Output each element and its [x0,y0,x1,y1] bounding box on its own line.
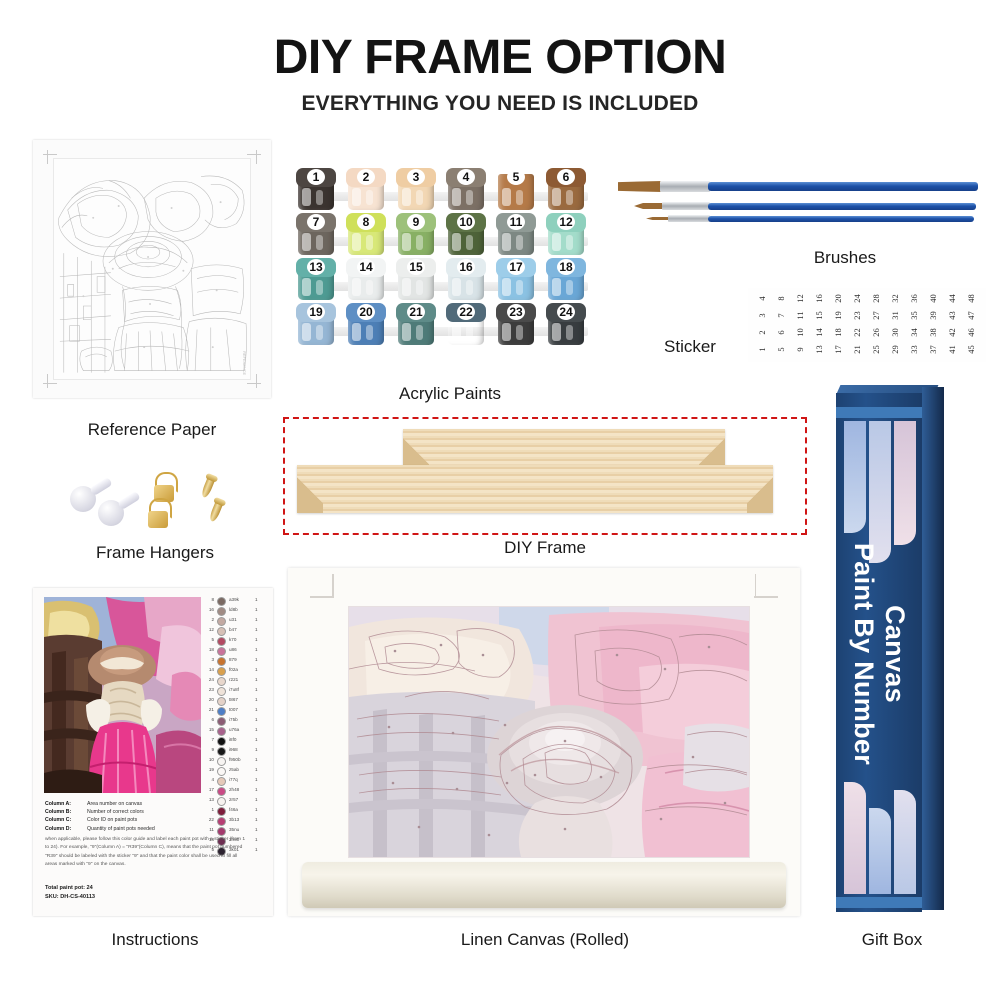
paint-pot-10[interactable]: 10 [446,213,486,257]
pot-highlight [552,323,561,341]
pot-highlight [416,190,423,205]
column-definition-label: Column D: [45,825,87,833]
frame-hangers-group [70,472,240,532]
sticker-number-25[interactable]: 25 [868,341,885,358]
legend-row: 4i77q1 [205,775,265,785]
pot-highlight [452,323,461,341]
paint-pot-15[interactable]: 15 [396,258,436,302]
infographic-root: DIY FRAME OPTION EVERYTHING YOU NEED IS … [0,0,1000,1000]
pot-number: 8 [346,214,386,231]
pot-number: 11 [496,214,536,231]
column-definition: Column C:Color ID on paint pots [45,816,255,824]
gift-box-title-line1: Canvas [879,439,910,869]
legend-row: 38791 [205,655,265,665]
legend-row: 20t8671 [205,695,265,705]
sticker-number-17[interactable]: 17 [830,341,847,358]
instructions-label: Instructions [40,930,270,950]
paint-pot-7[interactable]: 7 [296,213,336,257]
legend-row: 7i8f01 [205,735,265,745]
sticker-number-46[interactable]: 46 [963,324,980,341]
sticker-column: 17181920 [830,290,847,360]
legend-quantity: 1 [255,615,263,625]
legend-quantity: 1 [255,825,263,835]
paint-pot-row: 789101112 [296,213,596,258]
pot-highlight [416,235,423,250]
legend-row: 5k701 [205,635,265,645]
pot-highlight [466,325,473,340]
acrylic-paints-group: 123456789101112131415161718192021222324 [296,168,596,348]
pot-highlight [516,280,523,295]
pot-highlight [566,190,573,205]
legend-color-id: k70 [229,635,251,645]
sticker-number-38[interactable]: 38 [925,324,942,341]
pot-highlight [516,190,523,205]
sticker-column: 13141516 [811,290,828,360]
paint-pot-1[interactable]: 1 [296,168,336,212]
column-definitions: Column A:Area number on canvasColumn B:N… [45,800,255,833]
legend-area-number: 21 [205,705,214,715]
sticker-column: 37383940 [925,290,942,360]
column-definition-text: Area number on canvas [87,801,142,807]
pot-number: 6 [546,169,586,186]
paint-pot-row: 192021222324 [296,303,596,348]
legend-row: 12b471 [205,625,265,635]
legend-quantity: 1 [255,695,263,705]
pot-highlight [402,188,411,206]
pot-highlight [316,190,323,205]
gift-box: Canvas Paint By Number [836,385,946,916]
diy-frame-label: DIY Frame [420,538,670,558]
sticker-number-44[interactable]: 44 [944,290,961,307]
legend-row: 14f02a1 [205,665,265,675]
gift-box-title: Canvas Paint By Number [848,439,910,869]
legend-row: 8a39k1 [205,595,265,605]
legend-quantity: 1 [255,805,263,815]
legend-color-id: u31 [229,615,251,625]
legend-area-number: 2 [205,615,214,625]
frame-hangers-label: Frame Hangers [60,543,250,563]
pot-highlight [402,278,411,296]
legend-quantity: 1 [255,815,263,825]
sticker-number-26[interactable]: 26 [868,324,885,341]
sticker-column: 9101112 [792,290,809,360]
column-definition: Column B:Number of correct colors [45,808,255,816]
pot-highlight [352,188,361,206]
sticker-number-3[interactable]: 3 [754,307,771,324]
paint-pot-4[interactable]: 4 [446,168,486,212]
sticker-column: 25262728 [868,290,885,360]
instructions-totals: Total paint pot: 24 SKU: DH-CS-40113 [45,884,95,902]
diy-frame [283,417,807,535]
sticker-column: 29303132 [887,290,904,360]
sticker-number-21[interactable]: 21 [849,341,866,358]
pot-highlight [366,325,373,340]
paint-pot-13[interactable]: 13 [296,258,336,302]
legend-quantity: 1 [255,795,263,805]
legend-row: 172h481 [205,785,265,795]
pot-highlight [302,188,311,206]
pot-highlight [502,233,511,251]
pot-number: 1 [296,169,336,186]
legend-color-id: r221 [229,675,251,685]
gift-box-title-line2: Paint By Number [848,439,879,869]
pot-number: 22 [446,304,486,321]
paint-pot-24[interactable]: 24 [546,303,586,347]
gift-box-label: Gift Box [832,930,952,950]
sticker-number-30[interactable]: 30 [887,324,904,341]
sticker-number-10[interactable]: 10 [792,324,809,341]
paint-pot-22[interactable]: 22 [446,303,486,347]
sticker-number-32[interactable]: 32 [887,290,904,307]
sticker-number-7[interactable]: 7 [773,307,790,324]
pot-highlight [502,323,511,341]
legend-quantity: 1 [255,835,263,845]
legend-quantity: 1 [255,785,263,795]
pot-highlight [366,190,373,205]
paint-pot-23[interactable]: 23 [496,303,536,347]
paint-pot-9[interactable]: 9 [396,213,436,257]
stretcher-bar-bottom [297,465,773,513]
sticker-column: 33343536 [906,290,923,360]
pot-number: 18 [546,259,586,276]
pot-highlight [316,235,323,250]
pot-number: 5 [496,169,536,186]
column-definition-text: Color ID on paint pots [87,817,137,823]
svg-text:REFERENCE: REFERENCE [242,351,247,375]
column-definition-label: Column A: [45,800,87,808]
legend-quantity: 1 [255,765,263,775]
legend-area-number: 16 [205,605,214,615]
legend-row: 24r2211 [205,675,265,685]
pot-highlight [566,280,573,295]
pot-highlight [552,278,561,296]
page-title: DIY FRAME OPTION [0,30,1000,85]
sticker-column: 41424344 [944,290,961,360]
sticker-number-33[interactable]: 33 [906,341,923,358]
legend-area-number: 20 [205,695,214,705]
total-paint-pot: Total paint pot: 24 [45,884,95,893]
legend-quantity: 1 [255,755,263,765]
legend-quantity: 1 [255,605,263,615]
pot-highlight [316,280,323,295]
sticker-number-40[interactable]: 40 [925,290,942,307]
legend-area-number: 15 [205,725,214,735]
pot-number: 10 [446,214,486,231]
sticker-number-27[interactable]: 27 [868,307,885,324]
column-definition: Column A:Area number on canvas [45,800,255,808]
sticker-number-15[interactable]: 15 [811,307,828,324]
sticker-number-6[interactable]: 6 [773,324,790,341]
legend-color-id: i75b [229,715,251,725]
column-definition: Column D:Quantity of paint pots needed [45,825,255,833]
paint-pot-5[interactable]: 5 [496,168,536,212]
legend-quantity: 1 [255,655,263,665]
gift-box-side [922,387,944,910]
pot-highlight [402,323,411,341]
legend-row: 18u861 [205,645,265,655]
legend-row: 21t0071 [205,705,265,715]
gift-box-band-bottom [836,897,922,908]
legend-quantity: 1 [255,685,263,695]
legend-row: 15u76a1 [205,725,265,735]
sticker-sheet: 1234567891011121314151617181920212223242… [748,288,986,362]
pot-highlight [302,233,311,251]
sticker-column: 21222324 [849,290,866,360]
sticker-number-4[interactable]: 4 [754,290,771,307]
paint-pot-21[interactable]: 21 [396,303,436,347]
pot-highlight [302,323,311,341]
paint-pot-20[interactable]: 20 [346,303,386,347]
reference-paper-label: Reference Paper [33,420,271,440]
sticker-number-5[interactable]: 5 [773,341,790,358]
paint-pot-6[interactable]: 6 [546,168,586,212]
legend-color-id: 2h48 [229,785,251,795]
pot-highlight [452,233,461,251]
pot-highlight [552,233,561,251]
screw-2 [208,499,224,522]
sticker-column: 45464748 [963,290,980,360]
pot-highlight [552,188,561,206]
gift-box-front: Canvas Paint By Number [836,393,922,912]
sticker-number-18[interactable]: 18 [830,324,847,341]
legend-color-id: f02a [229,665,251,675]
pot-highlight [566,235,573,250]
legend-area-number: 8 [205,595,214,605]
legend-row: 2u311 [205,615,265,625]
pot-number: 15 [396,259,436,276]
legend-area-number: 12 [205,625,214,635]
sticker-number-20[interactable]: 20 [830,290,847,307]
pot-highlight [352,278,361,296]
sticker-number-11[interactable]: 11 [792,307,809,324]
sticker-number-9[interactable]: 9 [792,341,809,358]
paint-pot-3[interactable]: 3 [396,168,436,212]
legend-quantity: 1 [255,705,263,715]
paint-pot-17[interactable]: 17 [496,258,536,302]
legend-quantity: 1 [255,645,263,655]
sticker-number-29[interactable]: 29 [887,341,904,358]
page-subtitle: EVERYTHING YOU NEED IS INCLUDED [0,92,1000,116]
brushes-label: Brushes [760,248,930,268]
legend-color-id: u86 [229,645,251,655]
paint-pot-row: 123456 [296,168,596,213]
sku: SKU: DH-CS-40113 [45,893,95,902]
legend-quantity: 1 [255,665,263,675]
sticker-number-8[interactable]: 8 [773,290,790,307]
sticker-number-13[interactable]: 13 [811,341,828,358]
pot-highlight [352,323,361,341]
legend-row: 6i75b1 [205,715,265,725]
sticker-number-41[interactable]: 41 [944,341,961,358]
legend-area-number: 4 [205,775,214,785]
paint-pot-14[interactable]: 14 [346,258,386,302]
pot-highlight [502,278,511,296]
pot-highlight [316,325,323,340]
sticker-number-31[interactable]: 31 [887,307,904,324]
legend-color-id: f950b [229,755,251,765]
pot-number: 3 [396,169,436,186]
legend-area-number: 17 [205,785,214,795]
sticker-number-48[interactable]: 48 [963,290,980,307]
legend-area-number: 18 [205,645,214,655]
pot-number: 20 [346,304,386,321]
pot-highlight [466,280,473,295]
sticker-number-42[interactable]: 42 [944,324,961,341]
sticker-number-45[interactable]: 45 [963,341,980,358]
canvas-roll [302,862,786,908]
pot-highlight [516,235,523,250]
column-definition-text: Quantity of paint pots needed [87,826,155,832]
legend-color-id: i77q [229,775,251,785]
pot-number: 21 [396,304,436,321]
paint-pot-2[interactable]: 2 [346,168,386,212]
linen-canvas-label: Linen Canvas (Rolled) [400,930,690,950]
sticker-number-16[interactable]: 16 [811,290,828,307]
pot-number: 23 [496,304,536,321]
pot-highlight [566,325,573,340]
plastic-hanger-2 [98,494,146,526]
pot-number: 7 [296,214,336,231]
sticker-number-14[interactable]: 14 [811,324,828,341]
pot-highlight [366,235,373,250]
pot-number: 19 [296,304,336,321]
legend-quantity: 1 [255,725,263,735]
pot-highlight [302,278,311,296]
sticker-number-22[interactable]: 22 [849,324,866,341]
legend-quantity: 1 [255,715,263,725]
legend-area-number: 3 [205,655,214,665]
legend-area-number: 14 [205,665,214,675]
paint-pot-8[interactable]: 8 [346,213,386,257]
legend-row: 19z5ab1 [205,765,265,775]
legend-row: 23i7u8f1 [205,685,265,695]
legend-quantity: 1 [255,635,263,645]
pot-highlight [466,235,473,250]
pot-number: 12 [546,214,586,231]
pot-number: 9 [396,214,436,231]
legend-quantity: 1 [255,775,263,785]
sticker-number-37[interactable]: 37 [925,341,942,358]
legend-area-number: 7 [205,735,214,745]
sticker-column: 5678 [773,290,790,360]
pot-number: 17 [496,259,536,276]
sticker-number-12[interactable]: 12 [792,290,809,307]
sticker-number-34[interactable]: 34 [906,324,923,341]
sticker-number-35[interactable]: 35 [906,307,923,324]
sticker-number-36[interactable]: 36 [906,290,923,307]
sticker-label: Sticker [620,337,760,357]
legend-color-id: a39k [229,595,251,605]
reference-paper-artwork: REFERENCE [53,158,251,380]
pot-number: 13 [296,259,336,276]
paint-pot-12[interactable]: 12 [546,213,586,257]
column-definition-label: Column B: [45,808,87,816]
legend-area-number: 6 [205,715,214,725]
pot-number: 2 [346,169,386,186]
paint-pot-11[interactable]: 11 [496,213,536,257]
legend-row: 16ld8b1 [205,605,265,615]
d-ring-2 [148,498,170,528]
acrylic-paints-label: Acrylic Paints [310,384,590,404]
sticker-number-39[interactable]: 39 [925,307,942,324]
pot-highlight [502,188,511,206]
legend-area-number: 9 [205,745,214,755]
pot-highlight [452,188,461,206]
legend-area-number: 24 [205,675,214,685]
pot-number: 24 [546,304,586,321]
legend-row: 10f950b1 [205,755,265,765]
pot-highlight [352,233,361,251]
legend-quantity: 1 [255,595,263,605]
instructions-sheet: 8a39k116ld8b12u31112b4715k70118u86138791… [33,588,273,916]
instructions-paragraph: when applicable, please follow this colo… [45,836,250,870]
legend-row: 9i9681 [205,745,265,755]
pot-highlight [516,325,523,340]
sticker-number-43[interactable]: 43 [944,307,961,324]
legend-quantity: 1 [255,745,263,755]
legend-color-id: 879 [229,655,251,665]
legend-area-number: 10 [205,755,214,765]
pot-highlight [416,280,423,295]
legend-color-id: ld8b [229,605,251,615]
instructions-artwork [44,597,201,793]
sticker-number-23[interactable]: 23 [849,307,866,324]
legend-area-number: 23 [205,685,214,695]
column-definition-label: Column C: [45,816,87,824]
legend-color-id: t007 [229,705,251,715]
legend-color-id: t867 [229,695,251,705]
legend-area-number: 19 [205,765,214,775]
legend-quantity: 1 [255,625,263,635]
pot-highlight [416,325,423,340]
pot-highlight [366,280,373,295]
paint-pot-row: 131415161718 [296,258,596,303]
canvas-artwork [348,606,750,858]
legend-color-id: u76a [229,725,251,735]
reference-paper: REFERENCE [33,140,271,398]
column-definition-text: Number of correct colors [87,809,144,815]
brushes-group [618,172,978,242]
legend-color-id: b47 [229,625,251,635]
sticker-number-19[interactable]: 19 [830,307,847,324]
linen-canvas [288,568,800,916]
pot-highlight [466,190,473,205]
legend-quantity: 1 [255,675,263,685]
pot-number: 14 [346,259,386,276]
legend-color-id: i8f0 [229,735,251,745]
sticker-number-24[interactable]: 24 [849,290,866,307]
legend-color-id: z5ab [229,765,251,775]
legend-color-id: i7u8f [229,685,251,695]
paint-pot-19[interactable]: 19 [296,303,336,347]
legend-quantity: 1 [255,735,263,745]
legend-quantity: 1 [255,845,263,855]
legend-color-id: i968 [229,745,251,755]
paint-pot-16[interactable]: 16 [446,258,486,302]
pot-highlight [402,233,411,251]
screw-1 [200,475,216,498]
gift-box-band-top [836,407,922,418]
pot-number: 4 [446,169,486,186]
pot-highlight [452,278,461,296]
legend-area-number: 5 [205,635,214,645]
paint-pot-18[interactable]: 18 [546,258,586,302]
pot-number: 16 [446,259,486,276]
sticker-number-47[interactable]: 47 [963,307,980,324]
sticker-number-28[interactable]: 28 [868,290,885,307]
